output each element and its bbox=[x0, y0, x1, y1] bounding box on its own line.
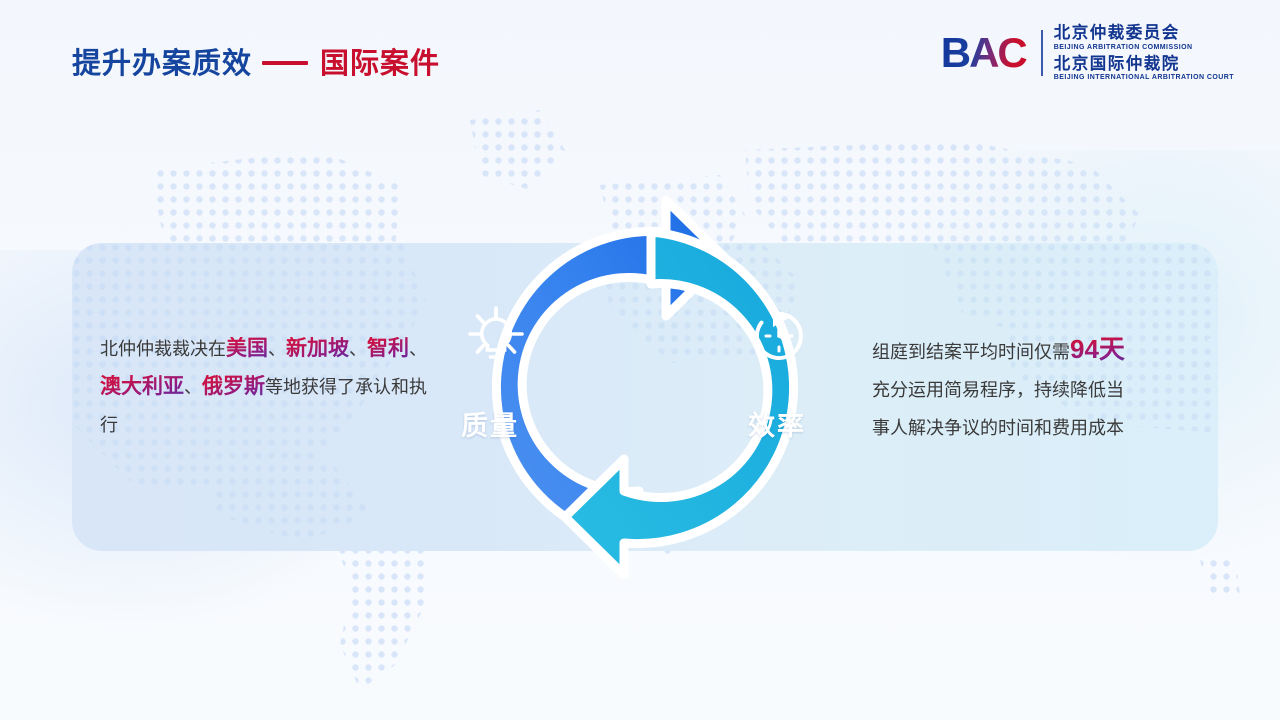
page-title-main: 提升办案质效 bbox=[72, 48, 252, 80]
quality-efficiency-cycle-diagram bbox=[425, 160, 865, 615]
logo-wordmark: BAC bbox=[941, 32, 1030, 74]
right-text-line2: 充分运用简易程序，持续降低当 bbox=[872, 380, 1124, 400]
left-separator-3: 、 bbox=[184, 377, 202, 397]
country-highlight-4: 俄罗斯 bbox=[202, 375, 265, 398]
title-divider-dash bbox=[262, 61, 308, 65]
left-separator-0: 、 bbox=[268, 339, 286, 359]
right-text-prefix: 组庭到结案平均时间仅需 bbox=[872, 342, 1070, 362]
left-separator-2: 、 bbox=[409, 339, 427, 359]
left-description: 北仲仲裁裁决在美国、新加坡、智利、澳大利亚、俄罗斯等地获得了承认和执行 bbox=[100, 330, 440, 444]
days-highlight: 94天 bbox=[1070, 334, 1125, 364]
country-highlight-1: 新加坡 bbox=[286, 337, 349, 360]
left-separator-1: 、 bbox=[349, 339, 367, 359]
logo-text-block: 北京仲裁委员会 BEIJING ARBITRATION COMMISSION 北… bbox=[1054, 25, 1234, 81]
logo-line1-cn: 北京仲裁委员会 bbox=[1054, 25, 1234, 42]
logo-line2-en: BEIJING INTERNATIONAL ARBITRATION COURT bbox=[1054, 74, 1234, 81]
cycle-label-efficiency: 效率 bbox=[748, 404, 806, 443]
logo-divider bbox=[1041, 30, 1043, 76]
right-description: 组庭到结案平均时间仅需94天充分运用简易程序，持续降低当事人解决争议的时间和费用… bbox=[872, 330, 1202, 447]
logo-line2: 北京国际仲裁院 BEIJING INTERNATIONAL ARBITRATIO… bbox=[1054, 56, 1234, 82]
cycle-label-quality: 质量 bbox=[461, 404, 519, 443]
bac-logo: BAC 北京仲裁委员会 BEIJING ARBITRATION COMMISSI… bbox=[941, 26, 1234, 80]
logo-line2-cn: 北京国际仲裁院 bbox=[1054, 56, 1234, 73]
page-title-accent: 国际案件 bbox=[320, 48, 440, 80]
logo-line1-en: BEIJING ARBITRATION COMMISSION bbox=[1054, 44, 1234, 51]
lightbulb-icon bbox=[466, 305, 526, 370]
country-highlight-2: 智利 bbox=[367, 337, 409, 360]
clock-arrow-icon bbox=[749, 305, 809, 370]
right-text-line3: 事人解决争议的时间和费用成本 bbox=[872, 418, 1124, 438]
country-highlight-0: 美国 bbox=[226, 337, 268, 360]
logo-line1: 北京仲裁委员会 BEIJING ARBITRATION COMMISSION bbox=[1054, 25, 1234, 51]
header: 提升办案质效国际案件 BAC 北京仲裁委员会 BEIJING ARBITRATI… bbox=[0, 0, 1280, 105]
page-title: 提升办案质效国际案件 bbox=[72, 40, 440, 82]
left-text-prefix: 北仲仲裁裁决在 bbox=[100, 339, 226, 359]
country-highlight-3: 澳大利亚 bbox=[100, 375, 184, 398]
